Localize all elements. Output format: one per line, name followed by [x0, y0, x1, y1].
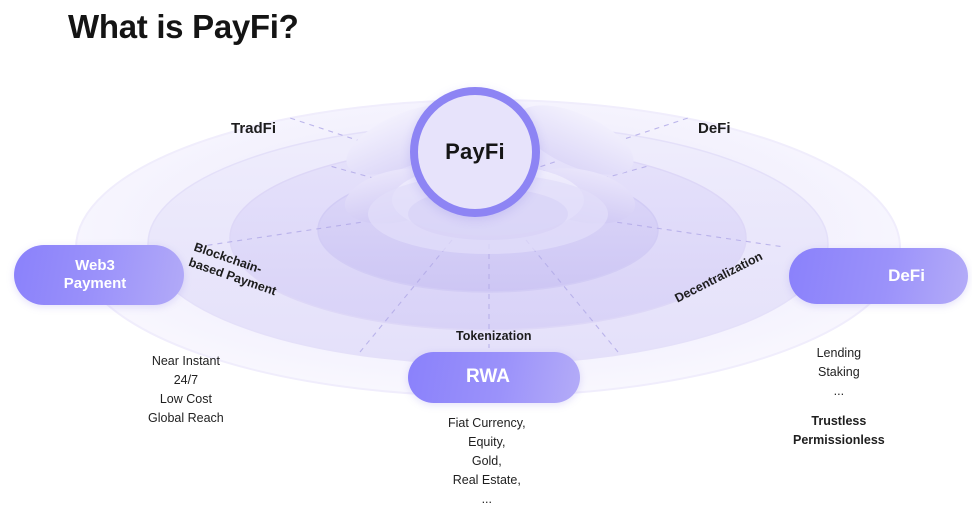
- center-node-payfi[interactable]: PayFi: [410, 87, 540, 217]
- axis-label-tradfi: TradFi: [231, 120, 276, 137]
- feature-list-defi: Lending Staking ... Trustless Permission…: [793, 344, 885, 450]
- pill-web3-payment-text: Web3 Payment: [64, 257, 127, 292]
- feature-item-emphasized: Trustless: [793, 412, 885, 431]
- diagram-canvas: What is PayFi?: [0, 0, 972, 502]
- feature-item: ...: [448, 490, 526, 509]
- pill-web3-payment-line1: Web3: [64, 257, 127, 275]
- feature-item: Global Reach: [148, 409, 224, 428]
- center-node-label: PayFi: [445, 139, 505, 165]
- feature-list-rwa: Fiat Currency, Equity, Gold, Real Estate…: [448, 414, 526, 509]
- feature-item: Staking: [793, 363, 885, 382]
- feature-item: ...: [793, 382, 885, 401]
- feature-list-web3-payment: Near Instant 24/7 Low Cost Global Reach: [148, 352, 224, 428]
- feature-item: Equity,: [448, 433, 526, 452]
- feature-item: Near Instant: [148, 352, 224, 371]
- pill-web3-payment-line2: Payment: [64, 275, 127, 293]
- pill-defi[interactable]: DeFi: [789, 248, 968, 304]
- feature-item: Gold,: [448, 452, 526, 471]
- pill-rwa[interactable]: RWA: [408, 352, 580, 403]
- feature-item: Low Cost: [148, 390, 224, 409]
- feature-item-emphasized: Permissionless: [793, 431, 885, 450]
- feature-item: Real Estate,: [448, 471, 526, 490]
- segment-label-tokenization: Tokenization: [456, 328, 531, 344]
- pill-defi-text: DeFi: [888, 266, 925, 286]
- pill-web3-payment[interactable]: Web3 Payment: [14, 245, 184, 305]
- pill-rwa-text: RWA: [466, 366, 510, 388]
- feature-item: Lending: [793, 344, 885, 363]
- feature-item: 24/7: [148, 371, 224, 390]
- feature-item: Fiat Currency,: [448, 414, 526, 433]
- axis-label-defi: DeFi: [698, 120, 731, 137]
- feature-list-spacer: [793, 401, 885, 412]
